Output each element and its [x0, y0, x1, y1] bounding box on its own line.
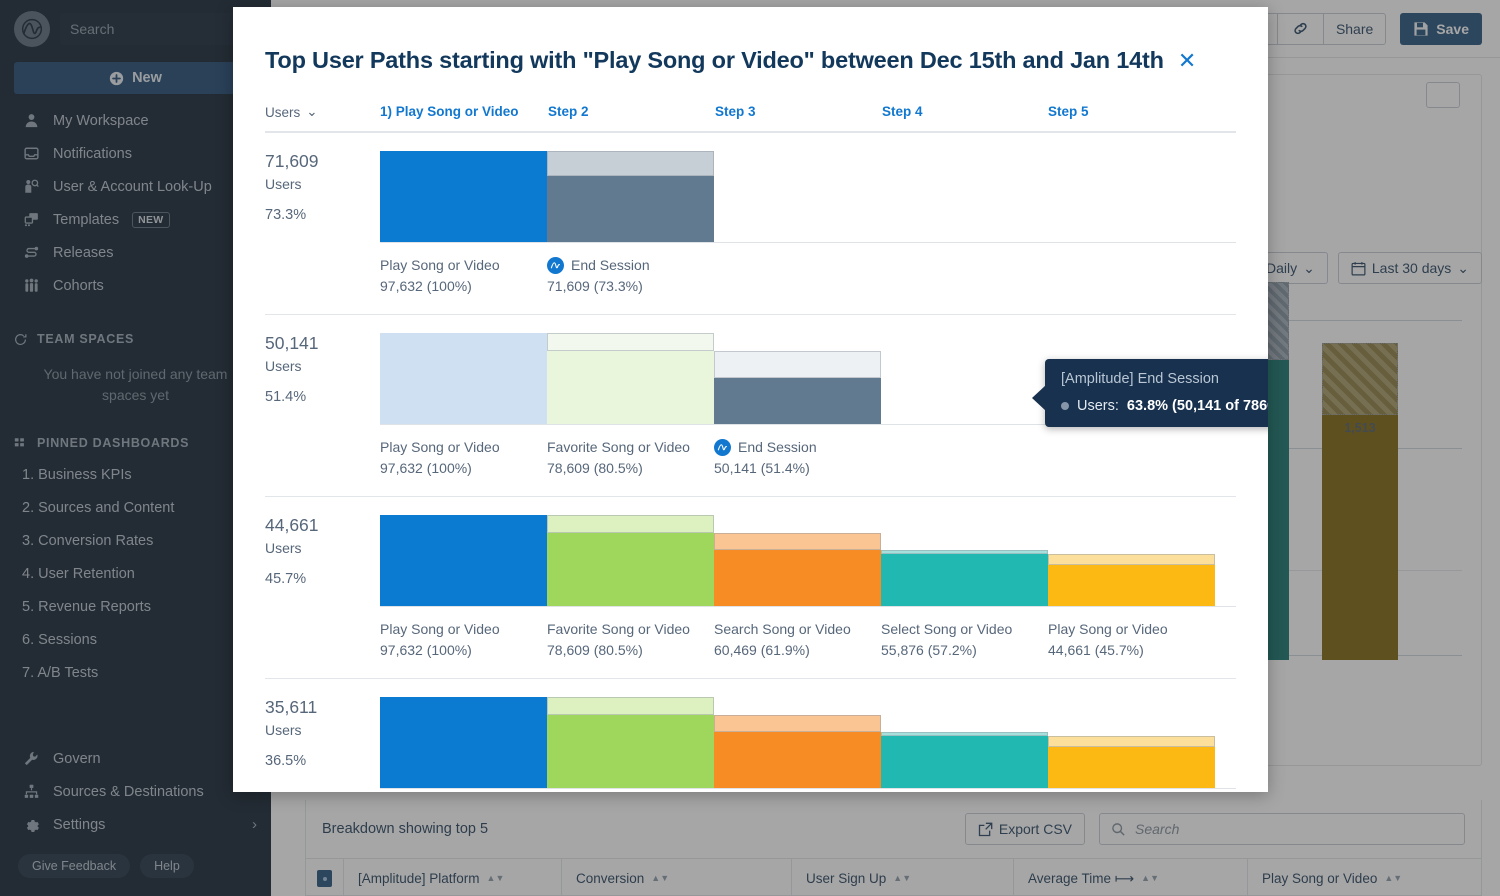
- path-step-value: 78,609 (80.5%): [547, 458, 714, 479]
- path-segment-dropoff: [714, 715, 881, 732]
- path-step-label: Search Song or Video60,469 (61.9%): [714, 619, 881, 661]
- column-label: Users: [265, 105, 300, 120]
- path-step-label: Favorite Song or Video78,609 (80.5%): [547, 619, 714, 661]
- path-segment[interactable]: [380, 697, 547, 789]
- path-segment[interactable]: [714, 550, 881, 607]
- path-baseline: [380, 788, 1236, 789]
- app-root: Search New My Workspace: [0, 0, 1500, 896]
- path-row-chart: [380, 497, 1236, 607]
- path-step-name: End Session: [571, 255, 650, 276]
- amplitude-icon: [547, 257, 564, 274]
- path-segment[interactable]: [714, 378, 881, 425]
- column-header-step-5[interactable]: Step 5: [1048, 104, 1089, 120]
- path-step-name: Play Song or Video: [380, 619, 500, 640]
- path-segment[interactable]: [380, 333, 547, 425]
- path-segment[interactable]: [881, 736, 1048, 789]
- tooltip-metric-label: Users:: [1077, 398, 1119, 414]
- path-row-users-count: 50,141: [265, 332, 380, 355]
- path-step-value: 60,469 (61.9%): [714, 640, 881, 661]
- path-step-name: End Session: [738, 437, 817, 458]
- paths-column-headers: Users ⌄ 1) Play Song or Video Step 2 Ste…: [265, 104, 1236, 133]
- path-row-users-unit: Users: [265, 173, 380, 196]
- path-step-value: 97,632 (100%): [380, 640, 547, 661]
- path-step-value: 50,141 (51.4%): [714, 458, 881, 479]
- path-step-label: End Session71,609 (73.3%): [547, 255, 714, 297]
- path-segment-dropoff: [547, 515, 714, 533]
- path-segment-dropoff: [714, 351, 881, 378]
- path-step-value: 97,632 (100%): [380, 276, 547, 297]
- path-row-body: 44,661Users45.7%: [265, 497, 1236, 607]
- path-row-users-pct: 45.7%: [265, 560, 380, 591]
- path-segment-dropoff: [881, 550, 1048, 554]
- path-step-name: Play Song or Video: [1048, 619, 1168, 640]
- path-row-users-count: 44,661: [265, 514, 380, 537]
- path-step-name: Search Song or Video: [714, 619, 851, 640]
- path-row-users-pct: 51.4%: [265, 378, 380, 409]
- tooltip-metric-value: 63.8% (50,141 of 78609): [1127, 398, 1268, 414]
- column-header-step-4[interactable]: Step 4: [882, 104, 1048, 120]
- modal-title-text: Top User Paths starting with "Play Song …: [265, 47, 1164, 74]
- path-step-value: 78,609 (80.5%): [547, 640, 714, 661]
- path-row-users-unit: Users: [265, 355, 380, 378]
- paths-rows-container: 71,609Users73.3%Play Song or Video97,632…: [265, 133, 1236, 789]
- path-step-label: Play Song or Video97,632 (100%): [380, 255, 547, 297]
- path-segment[interactable]: [380, 151, 547, 243]
- column-header-users[interactable]: Users ⌄: [265, 104, 380, 120]
- path-row-users-unit: Users: [265, 719, 380, 742]
- path-segment-dropoff: [714, 533, 881, 550]
- path-row-stats: 71,609Users73.3%: [265, 133, 380, 243]
- path-segment[interactable]: [547, 351, 714, 425]
- path-row-stats: 35,611Users36.5%: [265, 679, 380, 789]
- path-row-chart: [380, 679, 1236, 789]
- close-icon[interactable]: ✕: [1178, 48, 1196, 74]
- path-step-label: End Session50,141 (51.4%): [714, 437, 881, 479]
- path-step-value: 55,876 (57.2%): [881, 640, 1048, 661]
- path-step-value: 44,661 (45.7%): [1048, 640, 1215, 661]
- tooltip-title: [Amplitude] End Session: [1061, 371, 1268, 387]
- path-step-value: 97,632 (100%): [380, 458, 547, 479]
- user-paths-modal: Top User Paths starting with "Play Song …: [233, 7, 1268, 792]
- path-segment-dropoff: [547, 697, 714, 715]
- path-step-label: Select Song or Video55,876 (57.2%): [881, 619, 1048, 661]
- path-segment[interactable]: [714, 732, 881, 789]
- path-row-stats: 44,661Users45.7%: [265, 497, 380, 607]
- path-segment-dropoff: [547, 151, 714, 176]
- path-segment[interactable]: [547, 715, 714, 789]
- path-row-labels: Play Song or Video97,632 (100%)Favorite …: [265, 607, 1236, 678]
- chevron-down-icon: ⌄: [306, 104, 317, 120]
- path-baseline: [380, 606, 1236, 607]
- path-row-body: 35,611Users36.5%: [265, 679, 1236, 789]
- amplitude-icon: [714, 439, 731, 456]
- path-row[interactable]: 35,611Users36.5%: [265, 679, 1236, 789]
- path-step-name: Select Song or Video: [881, 619, 1012, 640]
- path-row-labels: Play Song or Video97,632 (100%)Favorite …: [265, 425, 1236, 496]
- path-row-users-count: 35,611: [265, 696, 380, 719]
- path-segment[interactable]: [1048, 747, 1215, 789]
- path-segment[interactable]: [547, 176, 714, 243]
- tooltip-bullet-icon: [1061, 402, 1069, 410]
- column-header-step-2[interactable]: Step 2: [548, 104, 715, 120]
- path-row-body: 71,609Users73.3%: [265, 133, 1236, 243]
- path-step-label: Play Song or Video97,632 (100%): [380, 437, 547, 479]
- path-segment[interactable]: [380, 515, 547, 607]
- path-segment-dropoff: [1048, 554, 1215, 565]
- path-step-name: Favorite Song or Video: [547, 437, 690, 458]
- modal-header: Top User Paths starting with "Play Song …: [233, 7, 1268, 74]
- path-segment[interactable]: [881, 554, 1048, 607]
- column-header-step-3[interactable]: Step 3: [715, 104, 882, 120]
- path-segment-dropoff: [547, 333, 714, 351]
- path-row[interactable]: 71,609Users73.3%Play Song or Video97,632…: [265, 133, 1236, 315]
- path-row-users-pct: 36.5%: [265, 742, 380, 773]
- path-step-name: Favorite Song or Video: [547, 619, 690, 640]
- tooltip-metric: Users: 63.8% (50,141 of 78609): [1061, 398, 1268, 414]
- path-step-label: Favorite Song or Video78,609 (80.5%): [547, 437, 714, 479]
- path-segment[interactable]: [1048, 565, 1215, 607]
- tooltip-arrow-icon: [1032, 385, 1046, 411]
- path-row-users-unit: Users: [265, 537, 380, 560]
- path-row-stats: 50,141Users51.4%: [265, 315, 380, 425]
- path-step-name: Play Song or Video: [380, 437, 500, 458]
- path-row-users-count: 71,609: [265, 150, 380, 173]
- path-segment-dropoff: [881, 732, 1048, 736]
- path-row-chart: [380, 133, 1236, 243]
- path-tooltip: [Amplitude] End Session Users: 63.8% (50…: [1045, 359, 1268, 427]
- path-row[interactable]: 44,661Users45.7%Play Song or Video97,632…: [265, 497, 1236, 679]
- path-step-name: Play Song or Video: [380, 255, 500, 276]
- path-step-value: 71,609 (73.3%): [547, 276, 714, 297]
- path-step-label: Play Song or Video44,661 (45.7%): [1048, 619, 1215, 661]
- path-row-users-pct: 73.3%: [265, 196, 380, 227]
- path-segment-dropoff: [1048, 736, 1215, 747]
- path-segment[interactable]: [547, 533, 714, 607]
- path-step-label: Play Song or Video97,632 (100%): [380, 619, 547, 661]
- path-row-labels: Play Song or Video97,632 (100%)End Sessi…: [265, 243, 1236, 314]
- column-header-step-1[interactable]: 1) Play Song or Video: [380, 104, 548, 120]
- path-baseline: [380, 242, 1236, 243]
